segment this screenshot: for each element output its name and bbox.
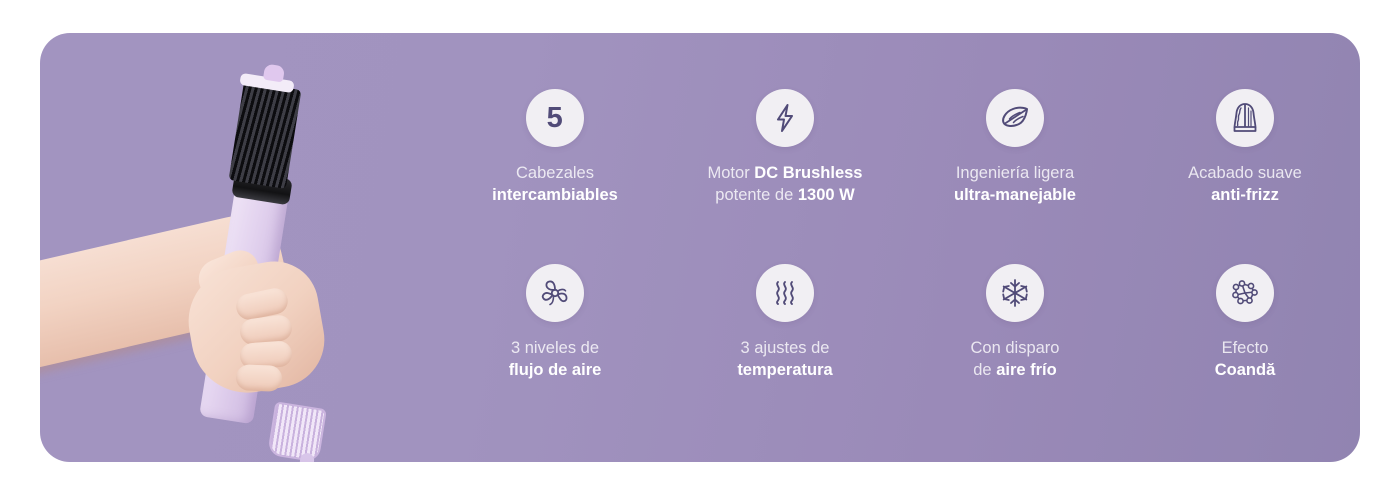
number-5-icon: 5 bbox=[526, 89, 584, 147]
caption-line-2: ultra-manejable bbox=[954, 185, 1076, 207]
feature-airflow-levels: 3 niveles de flujo de aire bbox=[440, 264, 670, 429]
caption-prefix: de bbox=[973, 361, 996, 379]
caption-line-1: Con disparo bbox=[971, 338, 1060, 360]
fan-icon bbox=[526, 264, 584, 322]
snowflake-icon bbox=[986, 264, 1044, 322]
caption-strong: DC Brushless bbox=[754, 164, 862, 182]
styler-barrel-attachment bbox=[229, 81, 302, 189]
feature-interchangeable-heads: 5 Cabezales intercambiables bbox=[440, 89, 670, 254]
caption-line-1: Cabezales bbox=[492, 163, 618, 185]
feature-temperature-settings: 3 ajustes de temperatura bbox=[670, 264, 900, 429]
lightning-bolt-icon bbox=[756, 89, 814, 147]
product-photo bbox=[40, 33, 440, 462]
promo-banner: 5 Cabezales intercambiables Motor DC Bru… bbox=[40, 33, 1360, 462]
feature-lightweight-engineering: Ingeniería ligera ultra-manejable bbox=[900, 89, 1130, 254]
heat-waves-icon bbox=[756, 264, 814, 322]
caption-line-1: 3 niveles de bbox=[509, 338, 602, 360]
caption-line-2: de aire frío bbox=[971, 360, 1060, 382]
caption-line-2: anti-frizz bbox=[1188, 185, 1302, 207]
feature-coanda-effect: Efecto Coandă bbox=[1130, 264, 1360, 429]
caption-line-2: potente de 1300 W bbox=[708, 185, 863, 207]
number-5-value: 5 bbox=[547, 104, 564, 133]
caption-line-2: Coandă bbox=[1215, 360, 1276, 382]
caption-prefix: potente de bbox=[715, 186, 798, 204]
caption-line-2: intercambiables bbox=[492, 185, 618, 207]
feature-caption: Cabezales intercambiables bbox=[492, 163, 618, 207]
feature-grid: 5 Cabezales intercambiables Motor DC Bru… bbox=[440, 89, 1360, 429]
feature-anti-frizz-finish: Acabado suave anti-frizz bbox=[1130, 89, 1360, 254]
caption-line-1: Acabado suave bbox=[1188, 163, 1302, 185]
caption-line-1: 3 ajustes de bbox=[737, 338, 832, 360]
feature-dc-brushless-motor: Motor DC Brushless potente de 1300 W bbox=[670, 89, 900, 254]
caption-line-2: flujo de aire bbox=[509, 360, 602, 382]
feature-caption: Acabado suave anti-frizz bbox=[1188, 163, 1302, 207]
feature-caption: Efecto Coandă bbox=[1215, 338, 1276, 382]
caption-line-1: Motor DC Brushless bbox=[708, 163, 863, 185]
feature-caption: 3 niveles de flujo de aire bbox=[509, 338, 602, 382]
styler-air-vent bbox=[267, 401, 327, 462]
caption-prefix: Motor bbox=[708, 164, 755, 182]
feature-caption: Con disparo de aire frío bbox=[971, 338, 1060, 382]
molecule-network-icon bbox=[1216, 264, 1274, 322]
finger bbox=[236, 364, 283, 392]
feature-caption: Ingeniería ligera ultra-manejable bbox=[954, 163, 1076, 207]
leaf-icon bbox=[986, 89, 1044, 147]
feature-caption: Motor DC Brushless potente de 1300 W bbox=[708, 163, 863, 207]
feature-caption: 3 ajustes de temperatura bbox=[737, 338, 832, 382]
caption-line-2: temperatura bbox=[737, 360, 832, 382]
caption-strong: aire frío bbox=[996, 361, 1057, 379]
smooth-hair-icon bbox=[1216, 89, 1274, 147]
barrel-tip bbox=[263, 64, 285, 83]
feature-cool-shot: Con disparo de aire frío bbox=[900, 264, 1130, 429]
caption-line-1: Ingeniería ligera bbox=[954, 163, 1076, 185]
caption-line-1: Efecto bbox=[1215, 338, 1276, 360]
caption-strong: 1300 W bbox=[798, 186, 855, 204]
